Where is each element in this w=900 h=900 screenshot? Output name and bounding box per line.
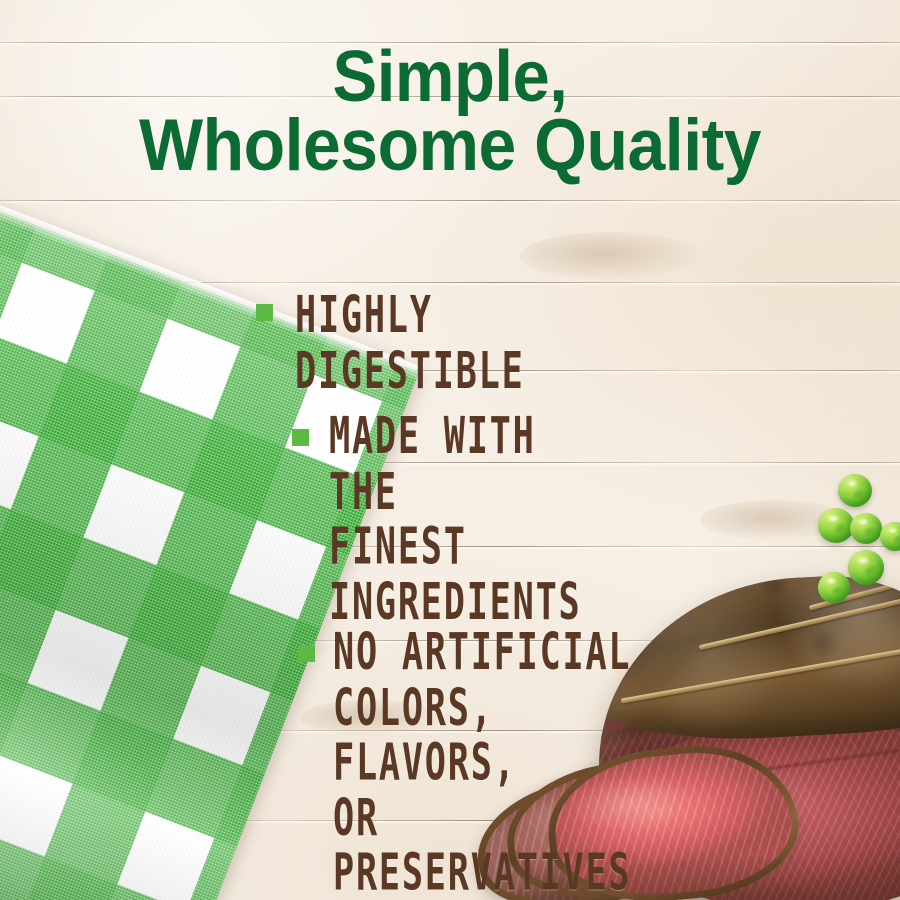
feature-list: HIGHLY DIGESTIBLE MADE WITH THE FINEST I…	[0, 288, 680, 893]
banner-canvas: Simple, Wholesome Quality HIGHLY DIGESTI…	[0, 0, 900, 900]
wood-knot	[520, 232, 700, 280]
pea	[818, 508, 854, 543]
bullet-square-icon	[298, 645, 315, 662]
pea	[838, 474, 872, 507]
feature-item-finest-ingredients: MADE WITH THE FINEST INGREDIENTS	[292, 413, 680, 599]
headline-line-1: Simple,	[32, 44, 869, 112]
feature-text: NO ARTIFICIAL COLORS, FLAVORS, OR PRESER…	[333, 625, 631, 900]
feature-item-highly-digestible: HIGHLY DIGESTIBLE	[256, 288, 680, 383]
bullet-square-icon	[256, 304, 273, 321]
pea	[850, 513, 882, 544]
pea	[848, 550, 884, 585]
feature-text: MADE WITH THE FINEST INGREDIENTS	[329, 409, 610, 629]
feature-text: HIGHLY DIGESTIBLE	[295, 288, 603, 398]
feature-item-no-artificial: NO ARTIFICIAL COLORS, FLAVORS, OR PRESER…	[298, 629, 680, 863]
headline-line-2: Wholesome Quality	[32, 112, 869, 181]
bullet-square-icon	[292, 429, 309, 446]
pea	[818, 572, 850, 603]
headline: Simple, Wholesome Quality	[0, 44, 900, 180]
